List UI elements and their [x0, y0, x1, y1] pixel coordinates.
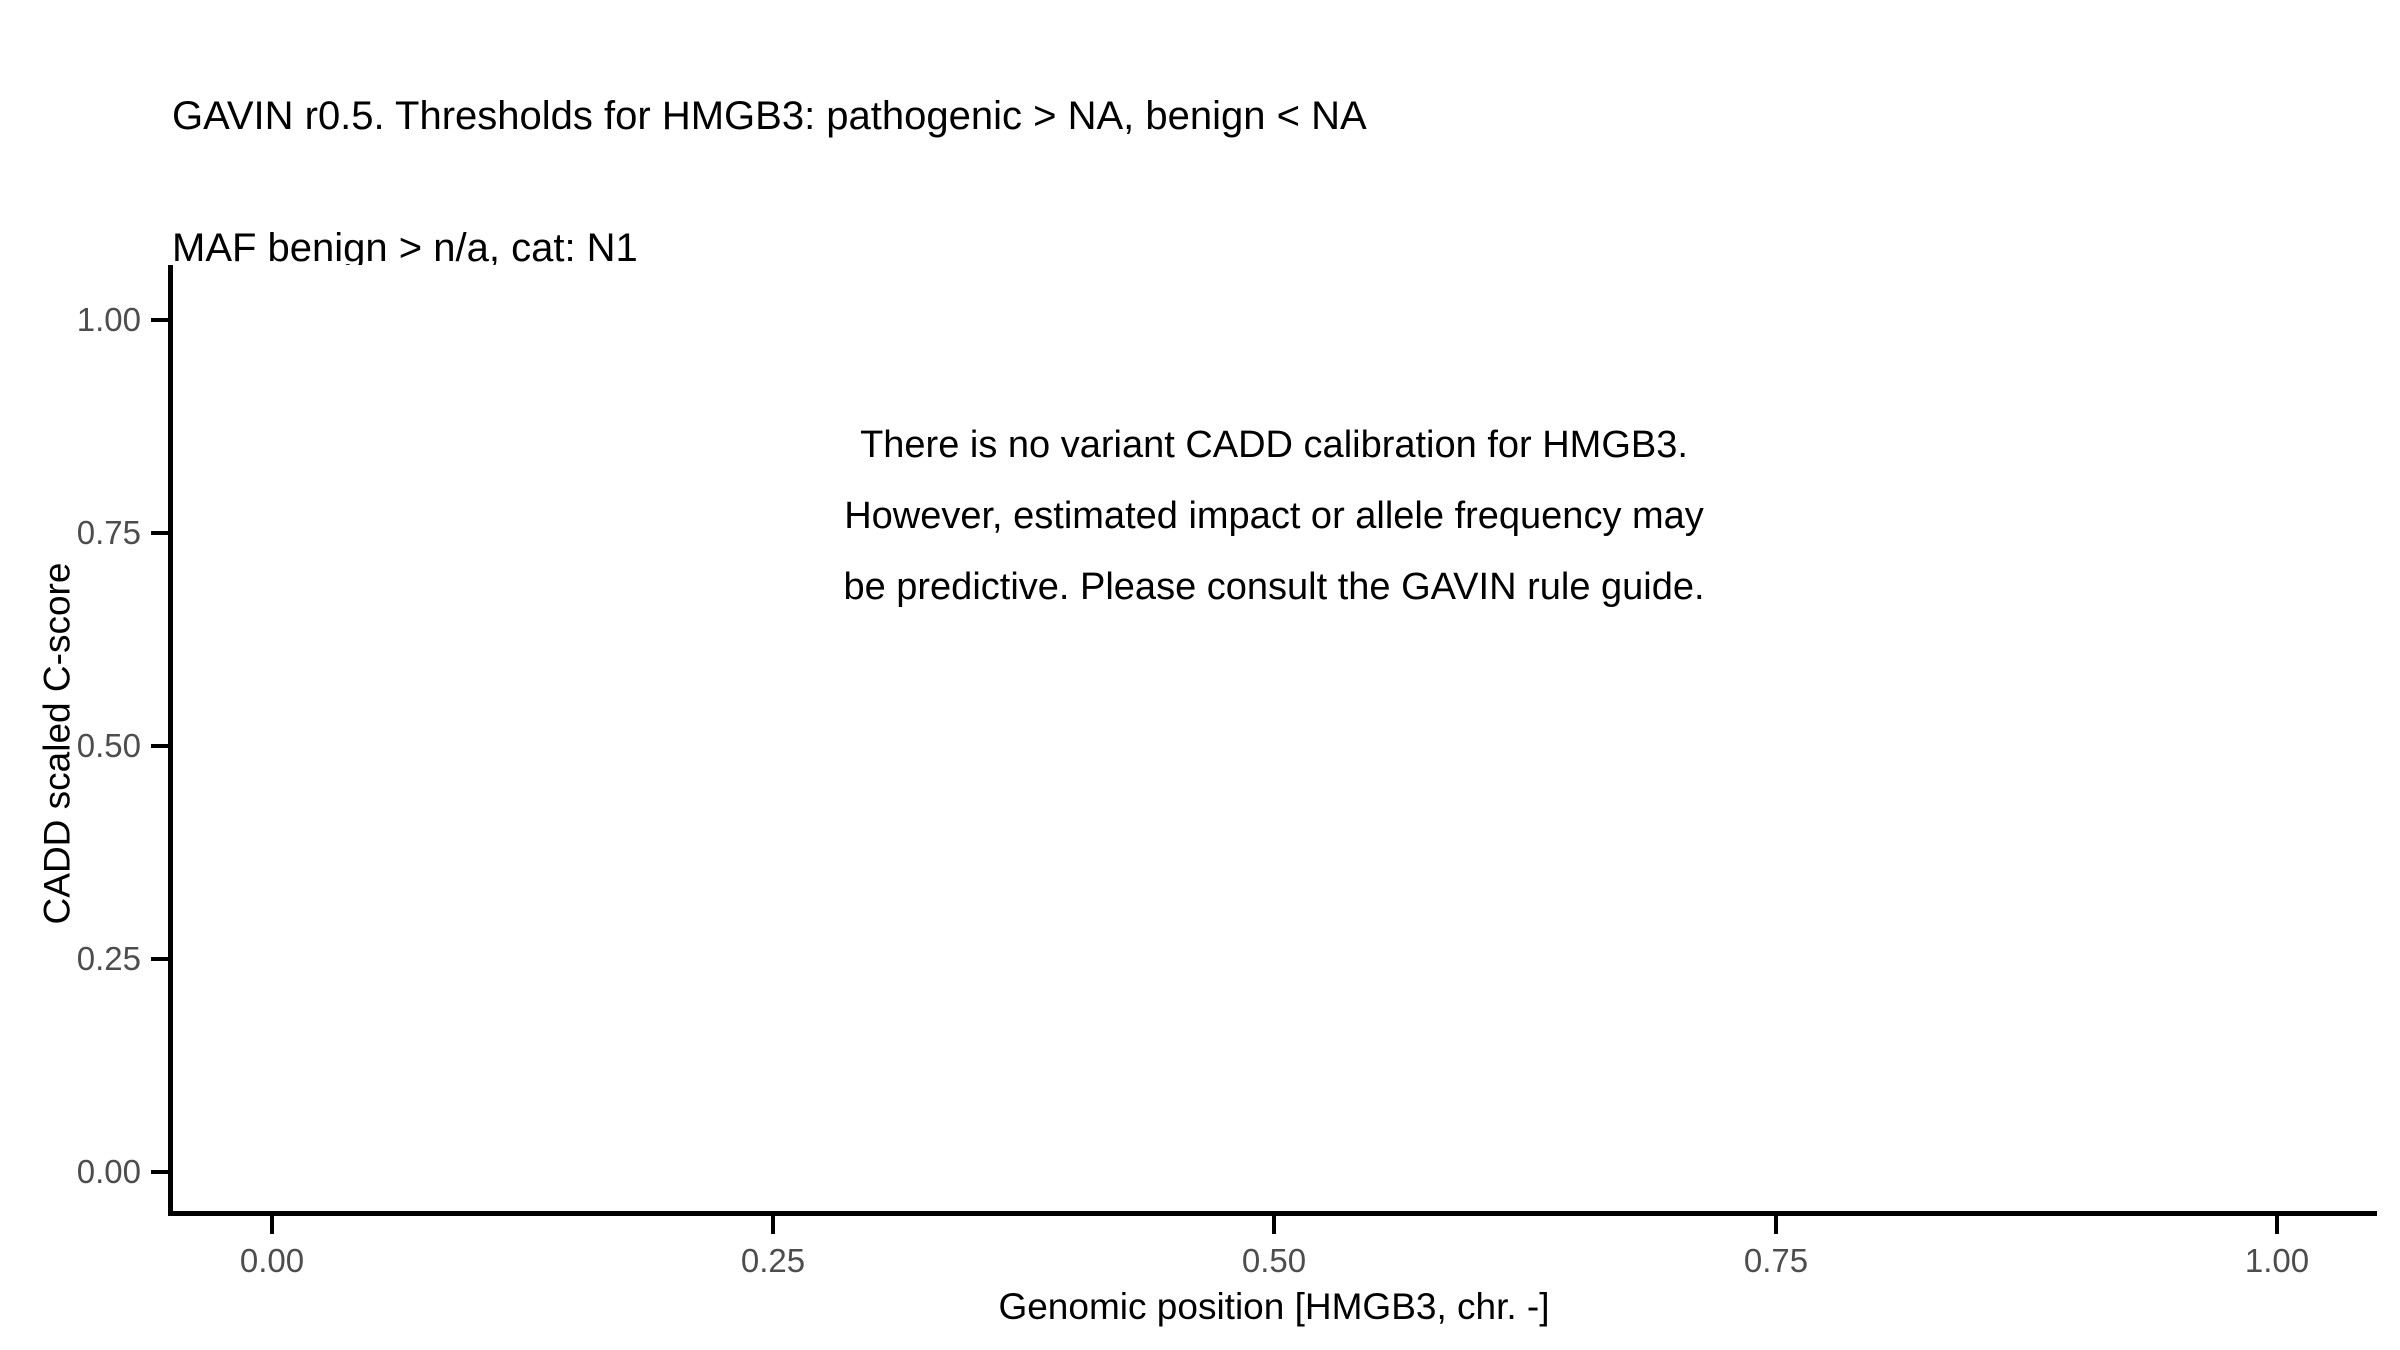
x-axis-tick-label: 0.00: [172, 1244, 372, 1277]
x-axis-tick-label: 0.50: [1174, 1244, 1374, 1277]
panel-annotation-line-3: be predictive. Please consult the GAVIN …: [171, 552, 2377, 623]
panel-annotation-line-2: However, estimated impact or allele freq…: [171, 481, 2377, 552]
gavin-cadd-plot: GAVIN r0.5. Thresholds for HMGB3: pathog…: [0, 0, 2400, 1350]
panel-annotation: There is no variant CADD calibration for…: [171, 410, 2377, 623]
x-axis-title: Genomic position [HMGB3, chr. -]: [171, 1288, 2377, 1325]
x-axis-tick-label: 0.75: [1676, 1244, 1876, 1277]
y-axis-tick-mark: [151, 318, 169, 322]
x-axis-tick-mark: [270, 1216, 274, 1234]
y-axis-line: [168, 265, 173, 1216]
chart-title-line-2: MAF benign > n/a, cat: N1: [172, 226, 2372, 270]
y-axis-title: CADD scaled C-score: [39, 294, 76, 1194]
x-axis-tick-mark: [1774, 1216, 1778, 1234]
panel-annotation-line-1: There is no variant CADD calibration for…: [171, 410, 2377, 481]
y-axis-tick-mark: [151, 957, 169, 961]
x-axis-tick-mark: [771, 1216, 775, 1234]
y-axis-tick-mark: [151, 1170, 169, 1174]
chart-title-line-1: GAVIN r0.5. Thresholds for HMGB3: pathog…: [172, 94, 2372, 138]
x-axis-tick-label: 1.00: [2177, 1244, 2377, 1277]
x-axis-tick-mark: [1272, 1216, 1276, 1234]
plot-panel: [171, 265, 2377, 1213]
x-axis-tick-label: 0.25: [673, 1244, 873, 1277]
y-axis-tick-mark: [151, 531, 169, 535]
x-axis-tick-mark: [2275, 1216, 2279, 1234]
y-axis-tick-mark: [151, 744, 169, 748]
